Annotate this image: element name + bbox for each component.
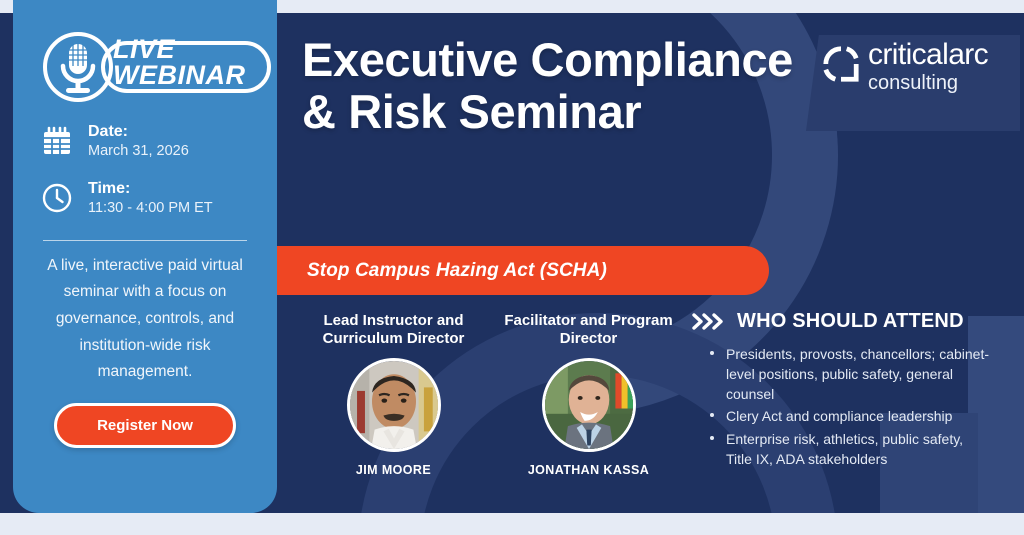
headshot-jonathan-kassa — [542, 358, 636, 452]
who-should-attend-section: WHO SHOULD ATTEND Presidents, provosts, … — [692, 310, 992, 471]
speakers-section: Lead Instructor and Curriculum Director — [296, 312, 686, 477]
speaker-role: Facilitator and Program Director — [491, 312, 686, 349]
event-time-text: Time: 11:30 - 4:00 PM ET — [88, 179, 213, 218]
list-item: Presidents, provosts, chancellors; cabin… — [710, 344, 992, 404]
topic-ribbon: Stop Campus Hazing Act (SCHA) — [277, 246, 769, 295]
clock-icon — [41, 182, 73, 214]
headshot-jim-moore — [347, 358, 441, 452]
cta-container: Register Now — [35, 403, 255, 448]
criticalarc-logo-icon — [822, 45, 860, 83]
divider — [43, 240, 247, 241]
event-date-row: Date: March 31, 2026 — [41, 122, 255, 161]
speaker-name: JIM MOORE — [296, 463, 491, 477]
event-time-label: Time: — [88, 179, 213, 199]
event-time-row: Time: 11:30 - 4:00 PM ET — [41, 179, 255, 218]
who-should-attend-list: Presidents, provosts, chancellors; cabin… — [710, 344, 992, 469]
live-webinar-text: LIVE WEBINAR — [113, 36, 273, 89]
speaker-card: Lead Instructor and Curriculum Director — [296, 312, 491, 477]
triple-chevron-right-icon — [692, 313, 726, 330]
webinar-promo-banner: Executive Compliance & Risk Seminar crit… — [0, 0, 1024, 535]
event-time-value: 11:30 - 4:00 PM ET — [88, 199, 213, 218]
badge-line-1: LIVE — [113, 36, 273, 62]
topic-ribbon-label: Stop Campus Hazing Act (SCHA) — [307, 260, 607, 282]
badge-line-2: WEBINAR — [113, 62, 273, 88]
speaker-name: JONATHAN KASSA — [491, 463, 686, 477]
brand-logo: criticalarc consulting — [822, 40, 1024, 97]
who-should-attend-header: WHO SHOULD ATTEND — [692, 310, 992, 333]
calendar-icon — [41, 125, 73, 157]
brand-text: criticalarc consulting — [868, 40, 1024, 97]
live-webinar-badge: LIVE WEBINAR — [39, 30, 255, 104]
page-title: Executive Compliance & Risk Seminar — [302, 34, 802, 138]
list-item: Clery Act and compliance leadership — [710, 406, 992, 426]
register-now-button[interactable]: Register Now — [54, 403, 236, 448]
brand-tagline: consulting — [868, 72, 958, 94]
who-should-attend-title: WHO SHOULD ATTEND — [737, 310, 964, 333]
brand-name: criticalarc — [868, 38, 988, 71]
list-item: Enterprise risk, athletics, public safet… — [710, 429, 992, 469]
event-date-label: Date: — [88, 122, 189, 142]
event-date-text: Date: March 31, 2026 — [88, 122, 189, 161]
speaker-role: Lead Instructor and Curriculum Director — [296, 312, 491, 349]
event-date-value: March 31, 2026 — [88, 142, 189, 161]
speaker-card: Facilitator and Program Director — [491, 312, 686, 477]
event-details-card: LIVE WEBINAR — [13, 0, 277, 513]
event-description: A live, interactive paid virtual seminar… — [41, 253, 249, 386]
